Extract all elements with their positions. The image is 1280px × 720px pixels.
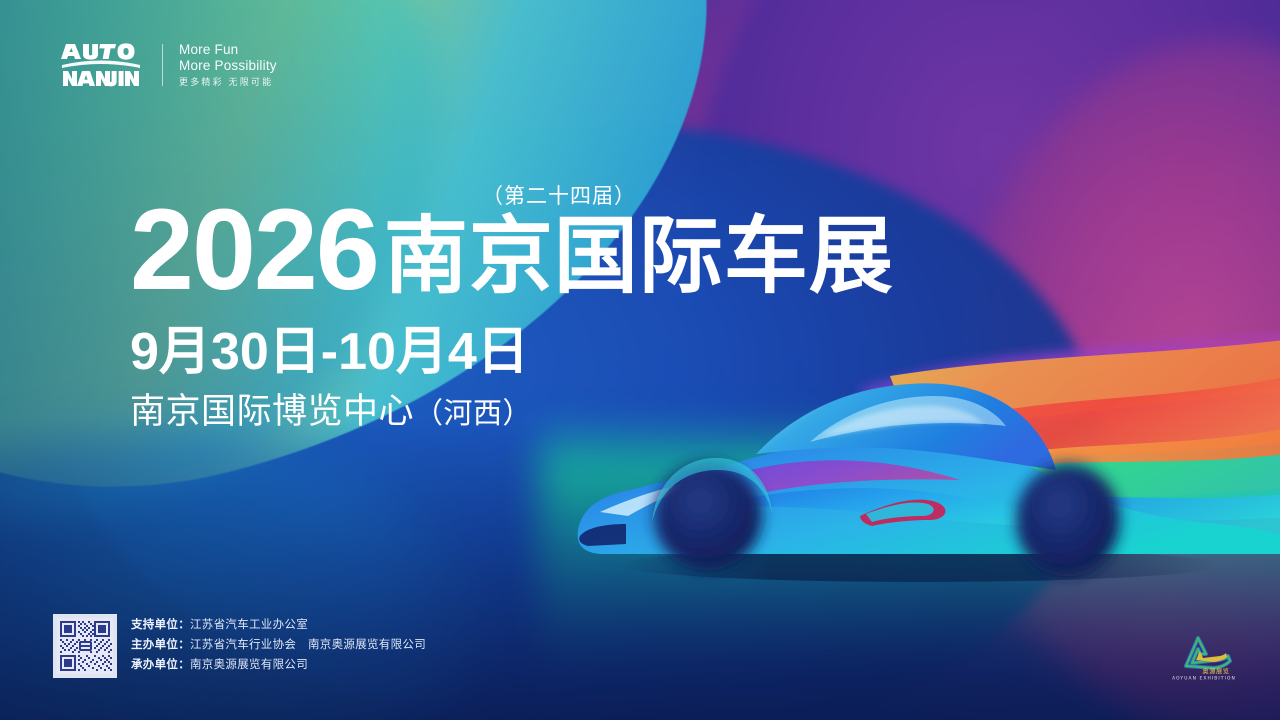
- edition-label: （第二十四届）: [482, 180, 636, 210]
- credit-value: 江苏省汽车工业办公室: [190, 619, 308, 631]
- poster-footer: 支持单位：江苏省汽车工业办公室 主办单位：江苏省汽车行业协会 南京奥源展览有限公…: [53, 614, 426, 678]
- brand-tagline: More Fun More Possibility 更多精彩 无限可能: [179, 42, 277, 87]
- tagline-en-line2: More Possibility: [179, 58, 277, 74]
- car-rear-wheel: [1016, 464, 1120, 576]
- credit-value: 南京奥源展览有限公司: [190, 659, 308, 671]
- event-date: 9月30日-10月4日: [130, 326, 894, 378]
- sponsor-logo-cn: 奥源展览: [1202, 668, 1229, 676]
- event-name: 南京国际车展: [384, 215, 894, 297]
- credits-block: 支持单位：江苏省汽车工业办公室 主办单位：江苏省汽车行业协会 南京奥源展览有限公…: [131, 616, 426, 675]
- title-block: （第二十四届） 2026 南京国际车展 9月30日-10月4日 南京国际博览中心…: [130, 170, 894, 429]
- qr-code[interactable]: [53, 614, 117, 678]
- tagline-en-line1: More Fun: [179, 42, 277, 58]
- credit-label: 支持单位：: [131, 619, 190, 631]
- venue-note: （河西）: [414, 398, 532, 430]
- title-main-row: 2026 南京国际车展: [130, 198, 894, 304]
- tagline-cn: 更多精彩 无限可能: [179, 77, 277, 88]
- sponsor-logo-en: AOYUAN EXHIBITION: [1172, 676, 1236, 682]
- header-divider: [162, 44, 163, 86]
- credit-line: 主办单位：江苏省汽车行业协会 南京奥源展览有限公司: [131, 636, 426, 656]
- credit-value: 江苏省汽车行业协会 南京奥源展览有限公司: [190, 639, 426, 651]
- venue-name: 南京国际博览中心: [130, 392, 414, 431]
- aoyuan-exhibition-logo-icon: 奥源展览 AOYUAN EXHIBITION: [1156, 630, 1252, 682]
- credit-line: 支持单位：江苏省汽车工业办公室: [131, 616, 426, 636]
- credit-line: 承办单位：南京奥源展览有限公司: [131, 656, 426, 676]
- credit-label: 主办单位：: [131, 639, 190, 651]
- credit-label: 承办单位：: [131, 659, 190, 671]
- poster-header: More Fun More Possibility 更多精彩 无限可能: [58, 38, 277, 92]
- year-number: 2026: [130, 198, 378, 304]
- auto-show-poster: More Fun More Possibility 更多精彩 无限可能 （第二十…: [0, 0, 1280, 720]
- auto-nanjing-logo-icon: [58, 38, 144, 92]
- event-venue: 南京国际博览中心（河西）: [130, 394, 894, 429]
